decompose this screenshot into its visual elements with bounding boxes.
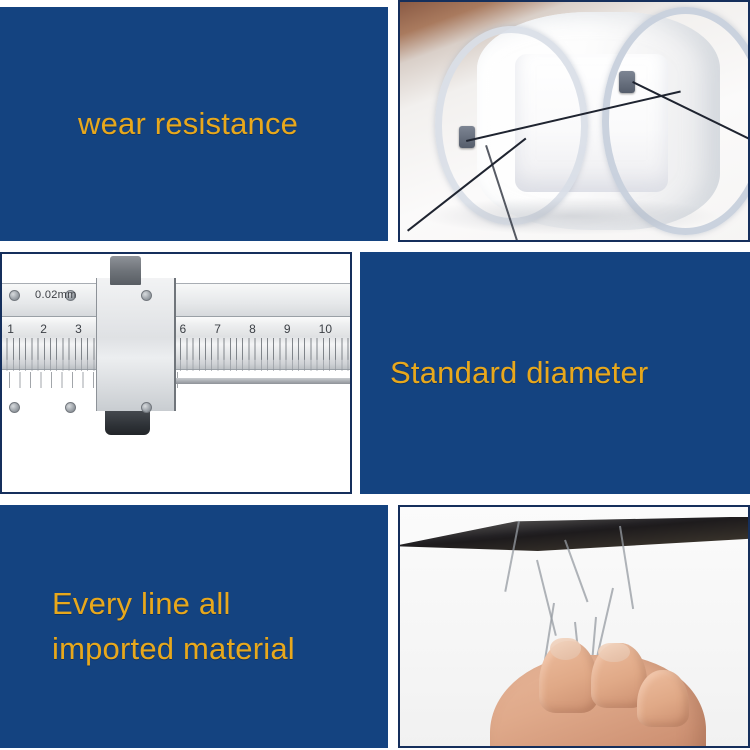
caliper-scale-number: 9: [284, 322, 291, 336]
spool-flange-left: [435, 26, 588, 226]
fishing-line-strand: [536, 559, 557, 635]
panel-vernier-caliper-photo: 1 2 3 4 5 6 7 8 9 10 0.02mm: [0, 252, 352, 494]
spool-shadow: [421, 197, 720, 235]
caliper-scale-number: 3: [75, 322, 82, 336]
caption-standard-diameter: Standard diameter: [360, 351, 648, 395]
caliper-scale-number: 1: [7, 322, 14, 336]
caliper-thumb-screw: [110, 256, 141, 285]
fishing-line-spool-image: [400, 2, 748, 240]
panel-line-spool-photo: [398, 0, 750, 242]
panel-hand-holding-line-photo: [398, 505, 750, 748]
caption-every-line-imported: Every line all imported material: [0, 582, 295, 670]
caliper-sliding-jaw: [96, 278, 176, 411]
product-feature-collage: wear resistance 1 2 3 4: [0, 0, 750, 750]
caliper-scale-number: 6: [179, 322, 186, 336]
hand-holding-fishing-line-image: [400, 507, 748, 746]
caliper-screw: [141, 290, 152, 301]
panel-wear-resistance: wear resistance: [0, 7, 388, 241]
caliper-screw: [141, 402, 152, 413]
panel-every-line-imported: Every line all imported material: [0, 505, 388, 748]
caliper-thumb-roller: [105, 411, 150, 435]
line-clip-left: [459, 126, 475, 148]
finger-ring: [637, 670, 689, 727]
caliper-screw: [9, 290, 20, 301]
caliper-precision-label: 0.02mm: [35, 289, 77, 301]
caliper-scale-number: 2: [40, 322, 47, 336]
caliper-depth-rod: [148, 378, 352, 384]
vernier-caliper-image: 1 2 3 4 5 6 7 8 9 10 0.02mm: [2, 254, 350, 492]
caption-wear-resistance: wear resistance: [0, 102, 298, 146]
fishing-line-strand: [564, 540, 588, 603]
caliper-screw: [65, 402, 76, 413]
caliper-scale-number: 10: [319, 322, 332, 336]
fingernail: [550, 638, 581, 660]
panel-standard-diameter: Standard diameter: [360, 252, 750, 494]
caliper-scale-number: 7: [214, 322, 221, 336]
caliper-screw: [9, 402, 20, 413]
caliper-scale-number: 8: [249, 322, 256, 336]
